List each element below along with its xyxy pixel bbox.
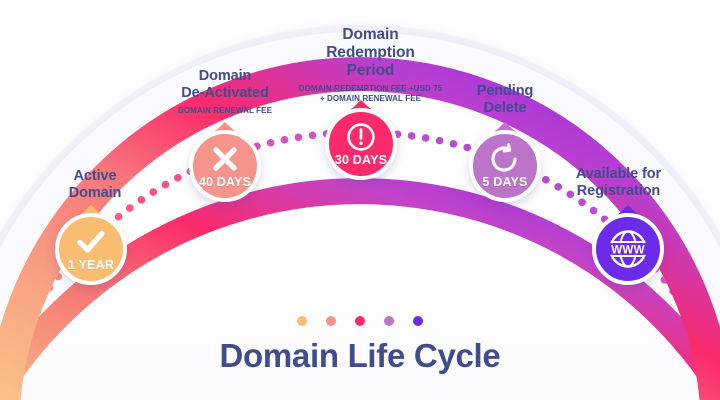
pin-duration: 5 DAYS (482, 176, 527, 189)
pin-content: 1 YEAR (55, 213, 127, 285)
check-icon (74, 226, 108, 258)
pin-content: WWW (592, 213, 664, 285)
stage-subtitle: DOMAIN REDEMPTION FEE +USD 75 + DOMAIN R… (278, 84, 463, 104)
www-text: WWW (611, 243, 644, 256)
refresh-icon (488, 143, 522, 175)
pin-duration: 1 YEAR (68, 259, 114, 272)
globe-www-icon: WWW (605, 226, 651, 272)
stage-title: Available for Registration (546, 166, 691, 200)
stage-title: Active Domain (30, 168, 160, 202)
pin-duration: 30 DAYS (335, 154, 387, 167)
pin-domain-de-activated[interactable]: 40 DAYS (189, 122, 261, 202)
legend-dot-domain-de-activated (326, 316, 336, 326)
label-domain-de-activated: Domain De-Activated DOMAIN RENEWAL FEE (155, 68, 295, 116)
stage-title: Pending Delete (450, 83, 560, 117)
pin-domain-redemption-period[interactable]: 30 DAYS (325, 100, 397, 180)
label-pending-delete: Pending Delete (450, 83, 560, 121)
stage-subtitle: DOMAIN RENEWAL FEE (155, 106, 295, 116)
legend-dot-active-domain (297, 316, 307, 326)
label-active-domain: Active Domain (30, 168, 160, 206)
infographic-canvas: Active Domain 1 YEAR Domain De-Activated… (0, 0, 720, 400)
pin-content: 5 DAYS (469, 130, 541, 202)
label-domain-redemption-period: Domain Redemption Period DOMAIN REDEMPTI… (278, 26, 463, 104)
pin-content: 40 DAYS (189, 130, 261, 202)
pin-content: 30 DAYS (325, 108, 397, 180)
pin-pending-delete[interactable]: 5 DAYS (469, 122, 541, 202)
stage-title: Domain Redemption Period (278, 26, 463, 80)
alert-exclamation-icon (344, 121, 378, 153)
stage-title: Domain De-Activated (155, 68, 295, 102)
legend-dots (0, 316, 720, 326)
pin-available-for-registration[interactable]: WWW (592, 205, 664, 285)
page-title: Domain Life Cycle (0, 337, 720, 375)
pin-duration: 40 DAYS (199, 176, 251, 189)
legend-dot-pending-delete (384, 316, 394, 326)
close-x-icon (208, 143, 242, 175)
pin-active-domain[interactable]: 1 YEAR (55, 205, 127, 285)
legend-dot-available-for-registration (413, 316, 423, 326)
label-available-for-registration: Available for Registration (546, 166, 691, 204)
legend-dot-domain-redemption-period (355, 316, 365, 326)
